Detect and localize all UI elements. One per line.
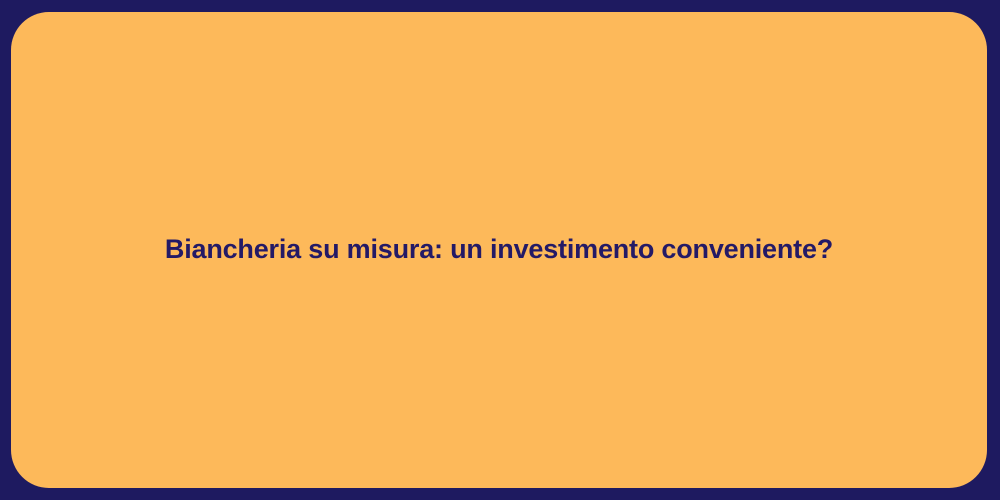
- page-title: Biancheria su misura: un investimento co…: [165, 233, 833, 267]
- banner-frame: Biancheria su misura: un investimento co…: [0, 0, 1000, 500]
- banner-card: Biancheria su misura: un investimento co…: [11, 12, 987, 488]
